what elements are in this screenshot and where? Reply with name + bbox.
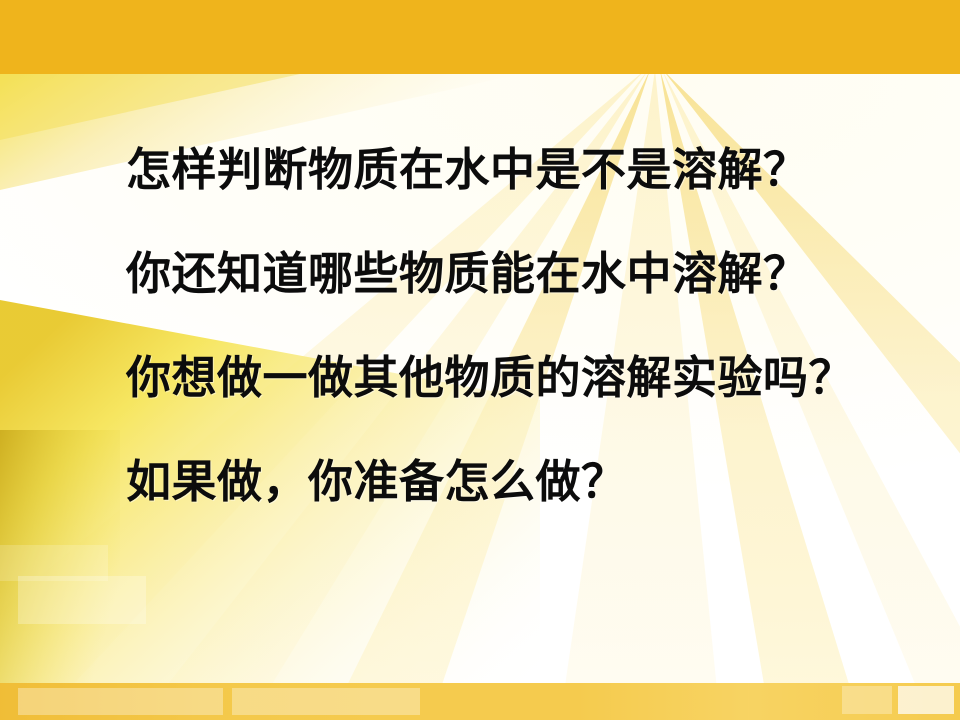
top-gold-band (0, 0, 960, 74)
decorative-block-bottom-right-1 (842, 686, 892, 714)
question-line-2: 你还知道哪些物质能在水中溶解？ (126, 222, 916, 326)
decorative-block-left-lower (18, 576, 146, 624)
slide-canvas: 怎样判断物质在水中是不是溶解？ 你还知道哪些物质能在水中溶解？ 你想做一做其他物… (0, 0, 960, 720)
decorative-block-bottom-left-1 (18, 688, 223, 715)
question-line-3: 你想做一做其他物质的溶解实验吗？ (126, 326, 916, 430)
question-line-4: 如果做，你准备怎么做？ (126, 430, 916, 534)
slide-text-block: 怎样判断物质在水中是不是溶解？ 你还知道哪些物质能在水中溶解？ 你想做一做其他物… (126, 118, 916, 534)
question-line-1: 怎样判断物质在水中是不是溶解？ (126, 118, 916, 222)
decorative-block-bottom-right-2 (898, 686, 954, 714)
decorative-block-bottom-left-2 (232, 688, 420, 715)
